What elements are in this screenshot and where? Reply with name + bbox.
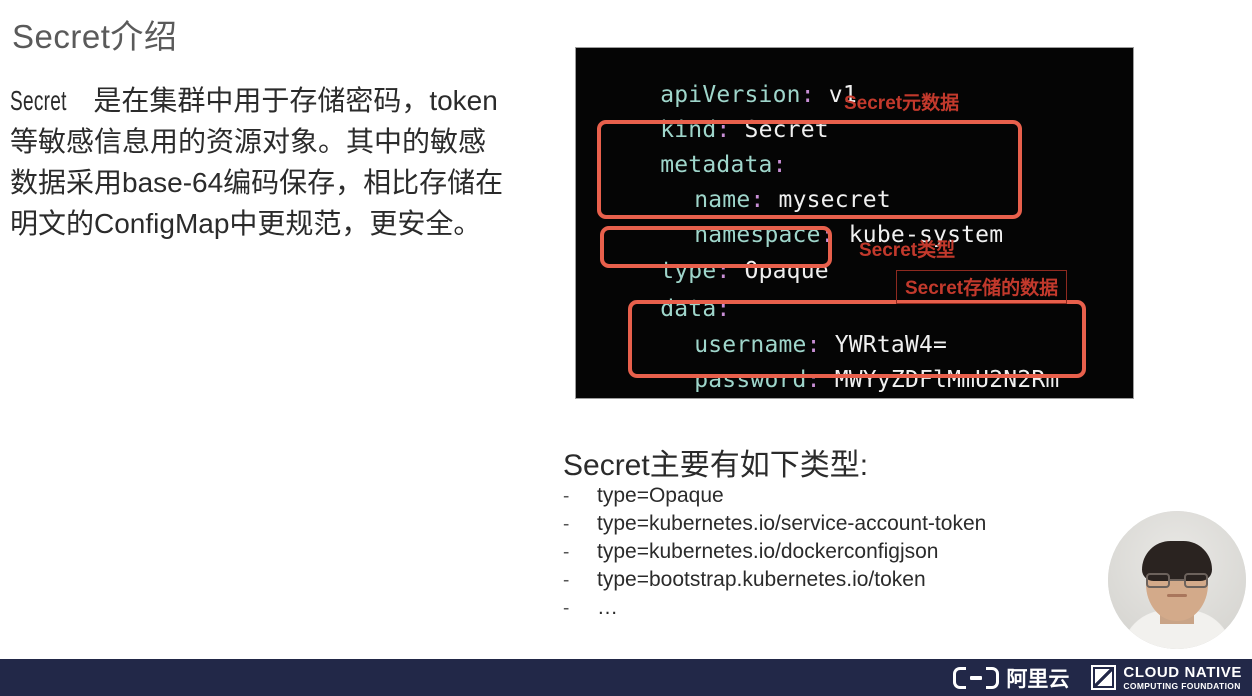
list-bullet: - xyxy=(563,570,597,592)
code-line-password: password: MWYyZDFlMmU2N2Rm xyxy=(576,341,1133,398)
list-bullet: - xyxy=(563,542,597,564)
list-item: - … xyxy=(563,596,1123,624)
list-item-label: type=kubernetes.io/service-account-token xyxy=(597,512,986,536)
presenter-avatar xyxy=(1108,511,1246,649)
cncf-line-2: COMPUTING FOUNDATION xyxy=(1123,682,1242,691)
paragraph-lead-text: Secret xyxy=(10,80,67,121)
alibaba-cloud-logo: 阿里云 xyxy=(953,663,1069,693)
cncf-logo: CLOUD NATIVE COMPUTING FOUNDATION xyxy=(1091,665,1242,691)
cncf-wordmark: CLOUD NATIVE COMPUTING FOUNDATION xyxy=(1123,665,1242,691)
body-paragraph: Secret是在集群中用于存储密码，token等敏感信息用的资源对象。其中的敏感… xyxy=(10,80,510,244)
glasses-icon xyxy=(1146,573,1208,588)
list-item-label: type=Opaque xyxy=(597,484,724,508)
list-item: - type=kubernetes.io/dockerconfigjson xyxy=(563,540,1123,568)
alibaba-cloud-mark-icon xyxy=(953,667,999,689)
types-heading: Secret主要有如下类型: xyxy=(563,440,868,484)
yaml-key: password xyxy=(694,367,806,393)
list-item-label: … xyxy=(597,596,618,620)
list-item: - type=Opaque xyxy=(563,484,1123,512)
list-item-label: type=kubernetes.io/dockerconfigjson xyxy=(597,540,938,564)
annotation-type: Secret类型 xyxy=(859,235,955,262)
list-item: - type=kubernetes.io/service-account-tok… xyxy=(563,512,1123,540)
avatar-mouth xyxy=(1167,594,1187,597)
list-item-label: type=bootstrap.kubernetes.io/token xyxy=(597,568,926,592)
footer-logos: 阿里云 CLOUD NATIVE COMPUTING FOUNDATION xyxy=(953,659,1242,696)
list-bullet: - xyxy=(563,598,597,620)
list-bullet: - xyxy=(563,486,597,508)
alibaba-cloud-label: 阿里云 xyxy=(1006,663,1069,693)
cncf-line-1: CLOUD NATIVE xyxy=(1123,665,1242,680)
yaml-code-block: apiVersion: v1 kind: Secret metadata: na… xyxy=(576,48,1133,398)
footer-bar: 阿里云 CLOUD NATIVE COMPUTING FOUNDATION xyxy=(0,659,1252,696)
list-item: - type=bootstrap.kubernetes.io/token xyxy=(563,568,1123,596)
yaml-colon: : xyxy=(807,367,835,393)
annotation-metadata: Secret元数据 xyxy=(844,88,959,115)
list-bullet: - xyxy=(563,514,597,536)
page-title: Secret介绍 xyxy=(12,10,177,58)
yaml-value: MWYyZDFlMmU2N2Rm xyxy=(835,367,1060,393)
annotation-data: Secret存储的数据 xyxy=(896,270,1067,304)
cncf-mark-icon xyxy=(1091,665,1116,690)
paragraph-body-text: 是在集群中用于存储密码，token等敏感信息用的资源对象。其中的敏感数据采用ba… xyxy=(10,85,503,239)
types-list: - type=Opaque - type=kubernetes.io/servi… xyxy=(563,484,1123,624)
